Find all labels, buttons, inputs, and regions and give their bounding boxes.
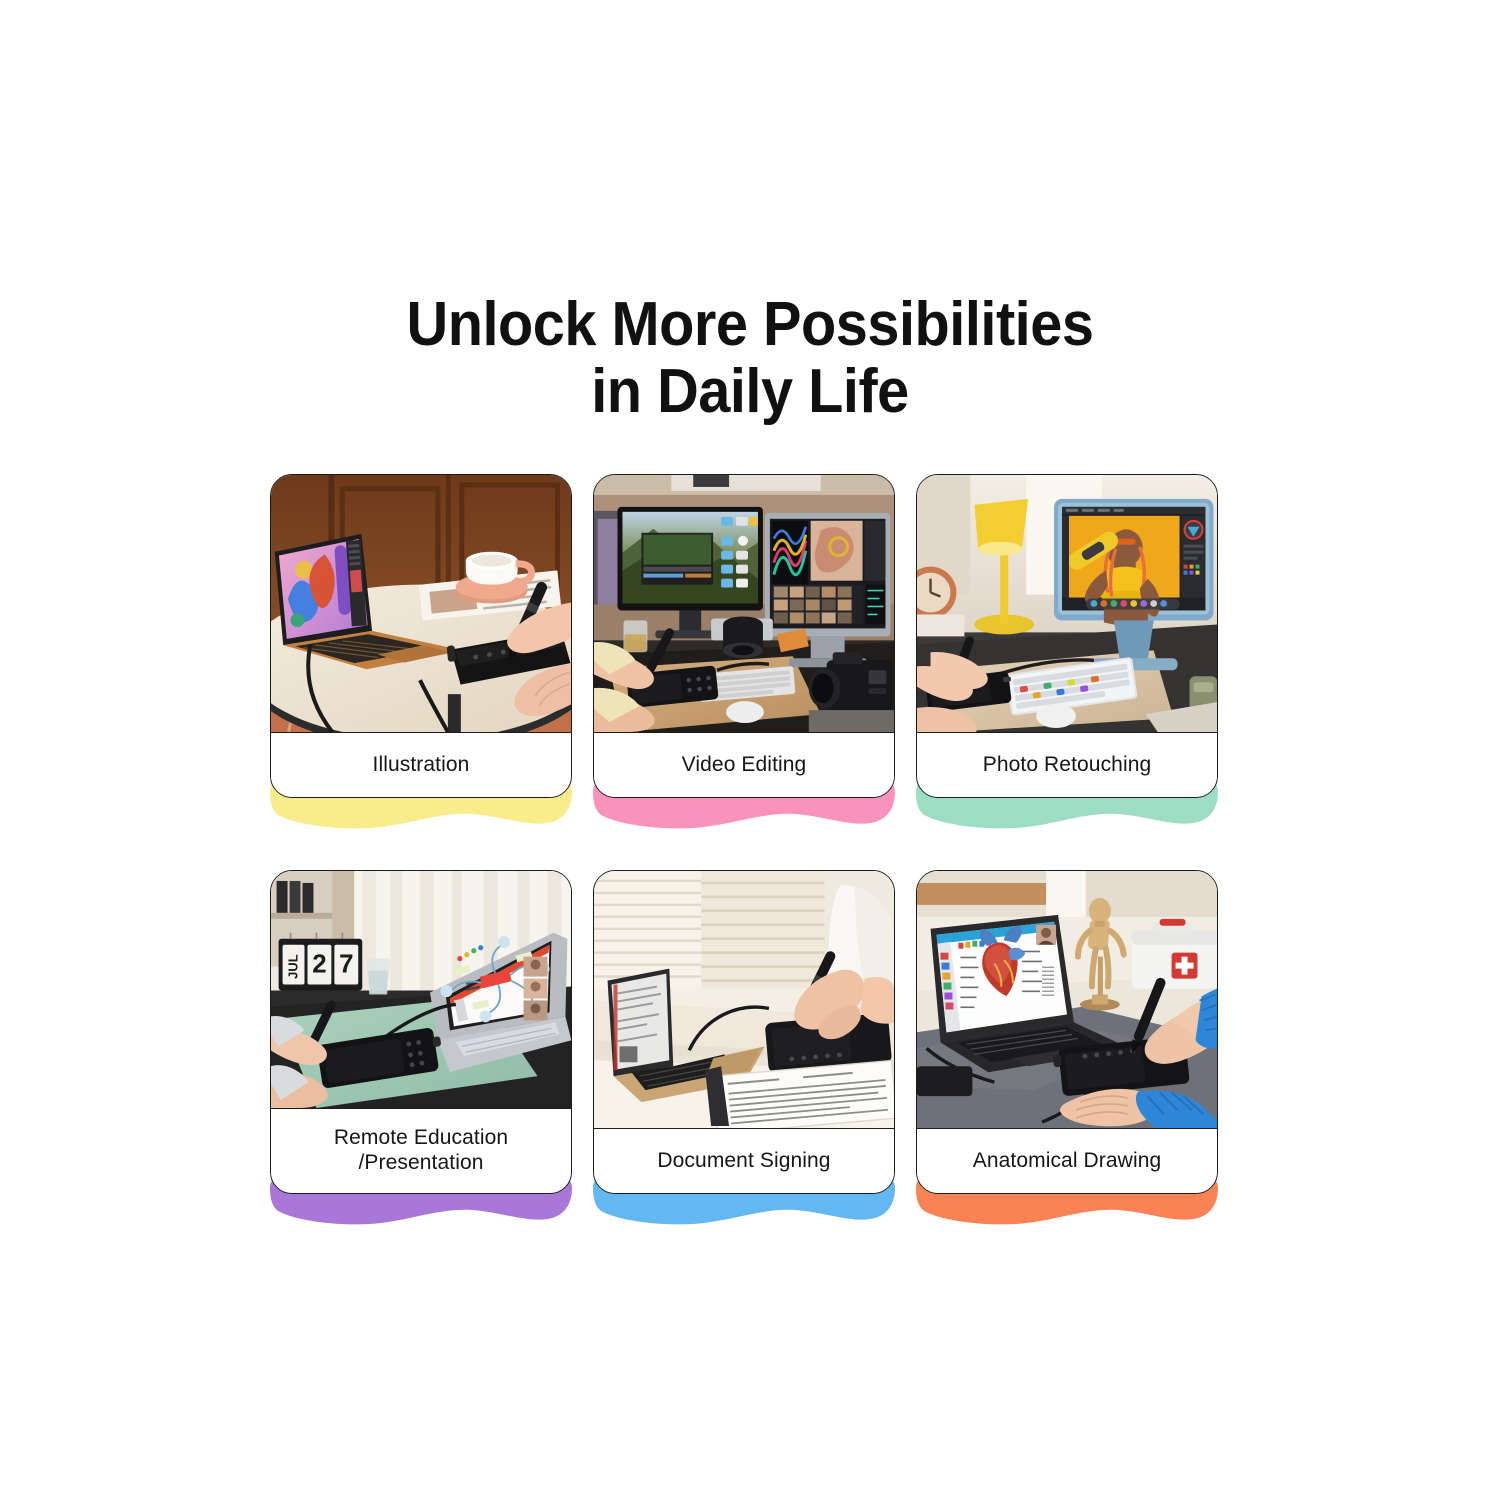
svg-text:2: 2	[312, 951, 326, 979]
caption-illustration: Illustration	[271, 733, 571, 797]
caption-video-editing: Video Editing	[594, 733, 894, 797]
card-label: Photo Retouching	[983, 753, 1152, 778]
card-label: Video Editing	[682, 753, 807, 778]
card-label: Illustration	[373, 753, 470, 778]
photo-photo-retouching	[917, 475, 1217, 733]
use-case-card-document-signing[interactable]: Document Signing	[593, 870, 895, 1228]
svg-text:JUL: JUL	[286, 954, 301, 979]
page-title-line-1: Unlock More Possibilities	[53, 292, 1448, 359]
page-title-line-2: in Daily Life	[53, 359, 1448, 426]
caption-anatomical-drawing: Anatomical Drawing	[917, 1129, 1217, 1193]
caption-photo-retouching: Photo Retouching	[917, 733, 1217, 797]
photo-illustration	[271, 475, 571, 733]
card-inner-photo-retouching: Photo Retouching	[916, 474, 1218, 798]
card-inner-illustration: Illustration	[270, 474, 572, 798]
photo-video-editing	[594, 475, 894, 733]
card-label: Anatomical Drawing	[973, 1149, 1162, 1174]
use-case-card-remote-education[interactable]: JUL 2 7	[270, 870, 572, 1228]
photo-remote-education: JUL 2 7	[271, 871, 571, 1109]
card-inner-document-signing: Document Signing	[593, 870, 895, 1194]
card-inner-remote-education: JUL 2 7	[270, 870, 572, 1194]
page-title: Unlock More Possibilities in Daily Life	[53, 292, 1448, 426]
photo-anatomical-drawing	[917, 871, 1217, 1129]
svg-text:7: 7	[339, 951, 353, 979]
use-case-card-video-editing[interactable]: Video Editing	[593, 474, 895, 832]
use-case-card-photo-retouching[interactable]: Photo Retouching	[916, 474, 1218, 832]
card-label: Remote Education /Presentation	[334, 1126, 508, 1175]
card-label: Document Signing	[657, 1149, 830, 1174]
photo-document-signing	[594, 871, 894, 1129]
caption-remote-education: Remote Education /Presentation	[271, 1109, 571, 1193]
caption-document-signing: Document Signing	[594, 1129, 894, 1193]
use-case-grid: Illustration	[270, 474, 1242, 1228]
use-case-card-illustration[interactable]: Illustration	[270, 474, 572, 832]
use-case-card-anatomical-drawing[interactable]: Anatomical Drawing	[916, 870, 1218, 1228]
card-inner-video-editing: Video Editing	[593, 474, 895, 798]
card-inner-anatomical-drawing: Anatomical Drawing	[916, 870, 1218, 1194]
page-root: Unlock More Possibilities in Daily Life	[0, 0, 1500, 1500]
